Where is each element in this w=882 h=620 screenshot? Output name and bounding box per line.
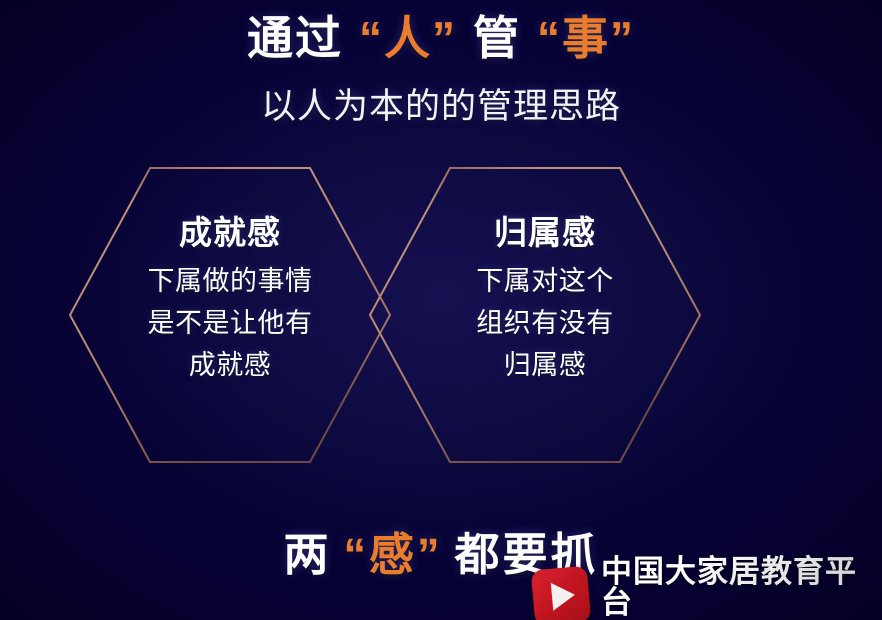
hexagon-left-heading: 成就感 <box>110 212 350 253</box>
footer-part-2-accent: “感” <box>343 529 442 580</box>
play-triangle-icon <box>551 581 576 611</box>
slide-title: 通过“人”管“事” <box>0 2 882 68</box>
slide-subtitle: 以人为本的的管理思路 <box>0 78 882 129</box>
hexagon-right-content: 归属感 下属对这个 组织有没有 归属感 <box>425 212 665 387</box>
brand-watermark: 中国大家居教育平台 National Home Designer Learnin… <box>533 556 882 620</box>
brand-name-cn: 中国大家居教育平台 <box>601 556 882 618</box>
hexagon-left-content: 成就感 下属做的事情 是不是让他有 成就感 <box>110 212 350 387</box>
presentation-slide: 通过“人”管“事” 以人为本的的管理思路 成就感 下属做的事情 是不是让他有 成… <box>0 0 882 620</box>
hexagon-left-line-1: 下属做的事情 <box>110 261 350 303</box>
title-part-4-accent: “事” <box>537 12 635 64</box>
hexagon-left-line-3: 成就感 <box>110 345 350 387</box>
hexagon-right-line-2: 组织有没有 <box>425 303 665 345</box>
footer-part-1: 两 <box>283 529 331 580</box>
hexagon-left-line-2: 是不是让他有 <box>110 303 350 345</box>
title-part-2-accent: “人” <box>359 12 457 64</box>
hexagon-right-line-3: 归属感 <box>425 345 665 387</box>
play-button-icon <box>531 566 592 620</box>
title-part-3: 管 <box>473 12 521 64</box>
brand-name-block: 中国大家居教育平台 National Home Designer Learnin… <box>601 556 882 620</box>
title-part-1: 通过 <box>247 12 343 64</box>
hexagon-right-line-1: 下属对这个 <box>425 261 665 303</box>
hexagon-right-heading: 归属感 <box>425 212 665 253</box>
